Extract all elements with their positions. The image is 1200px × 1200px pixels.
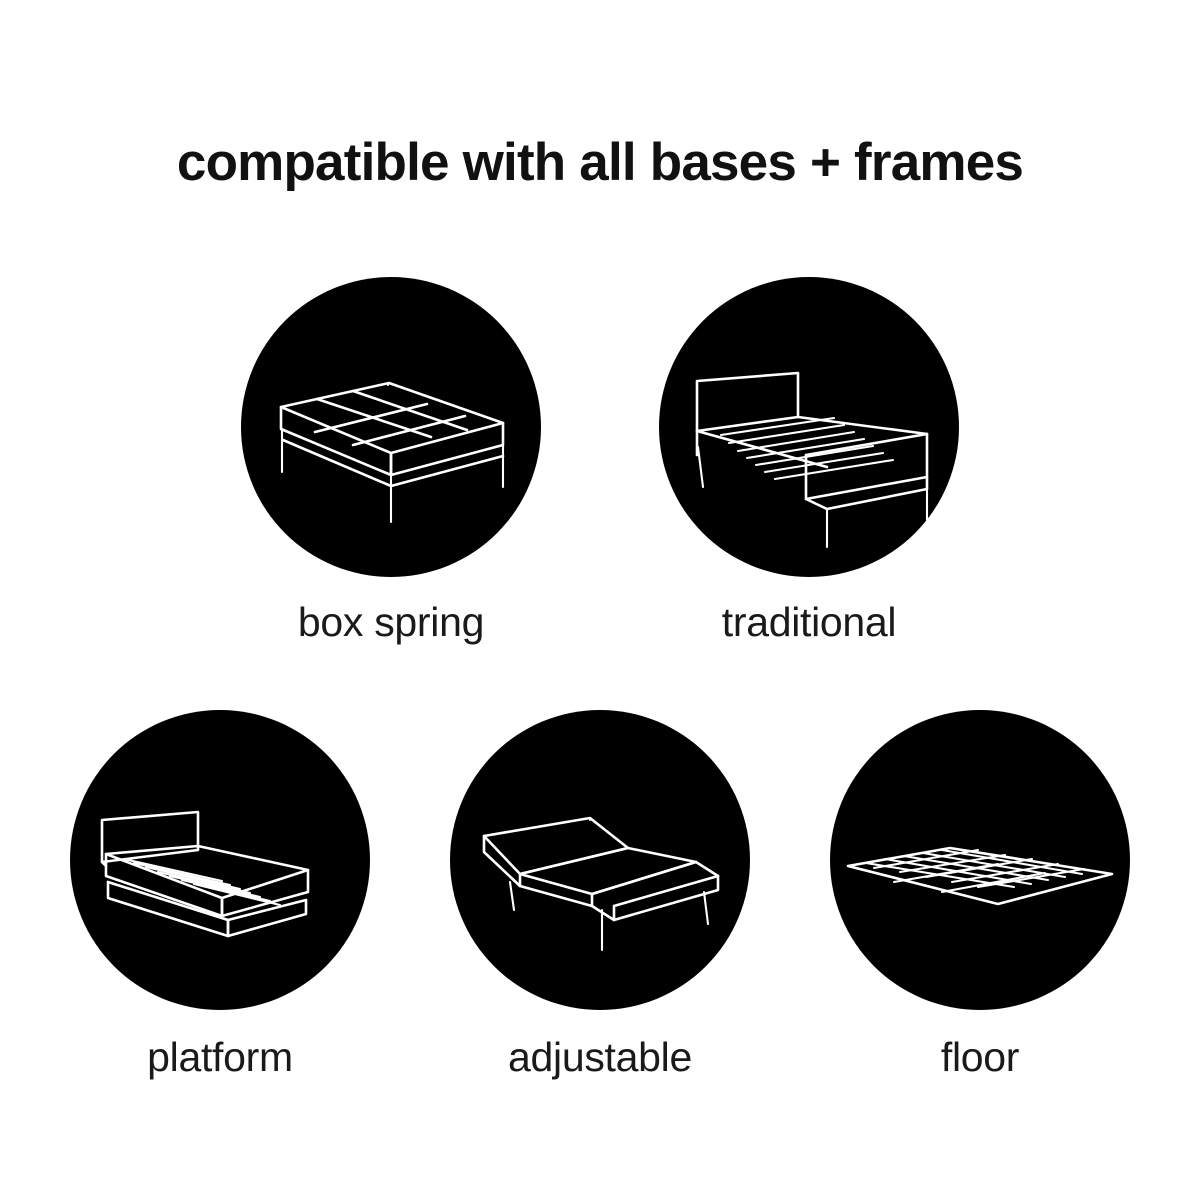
- traditional-circle[interactable]: [659, 277, 959, 577]
- platform-circle[interactable]: [70, 710, 370, 1010]
- adjustable-base-icon: [450, 710, 750, 1010]
- box-spring-circle[interactable]: [241, 277, 541, 577]
- base-item-traditional[interactable]: traditional: [658, 277, 960, 646]
- icon-row-bottom: platform: [0, 710, 1200, 1081]
- icon-row-top: box spring: [0, 277, 1200, 646]
- caption-box-spring: box spring: [298, 599, 484, 646]
- adjustable-circle[interactable]: [450, 710, 750, 1010]
- base-item-adjustable[interactable]: adjustable: [449, 710, 751, 1081]
- traditional-bed-icon: [659, 277, 959, 577]
- compatibility-infographic: compatible with all bases + frames: [0, 0, 1200, 1200]
- platform-bed-icon: [70, 710, 370, 1010]
- caption-platform: platform: [147, 1034, 293, 1081]
- base-item-box-spring[interactable]: box spring: [240, 277, 542, 646]
- floor-icon: [830, 710, 1130, 1010]
- box-spring-icon: [241, 277, 541, 577]
- base-item-floor[interactable]: floor: [829, 710, 1131, 1081]
- caption-floor: floor: [941, 1034, 1019, 1081]
- floor-circle[interactable]: [830, 710, 1130, 1010]
- caption-adjustable: adjustable: [508, 1034, 692, 1081]
- base-item-platform[interactable]: platform: [69, 710, 371, 1081]
- page-title: compatible with all bases + frames: [0, 134, 1200, 192]
- caption-traditional: traditional: [722, 599, 896, 646]
